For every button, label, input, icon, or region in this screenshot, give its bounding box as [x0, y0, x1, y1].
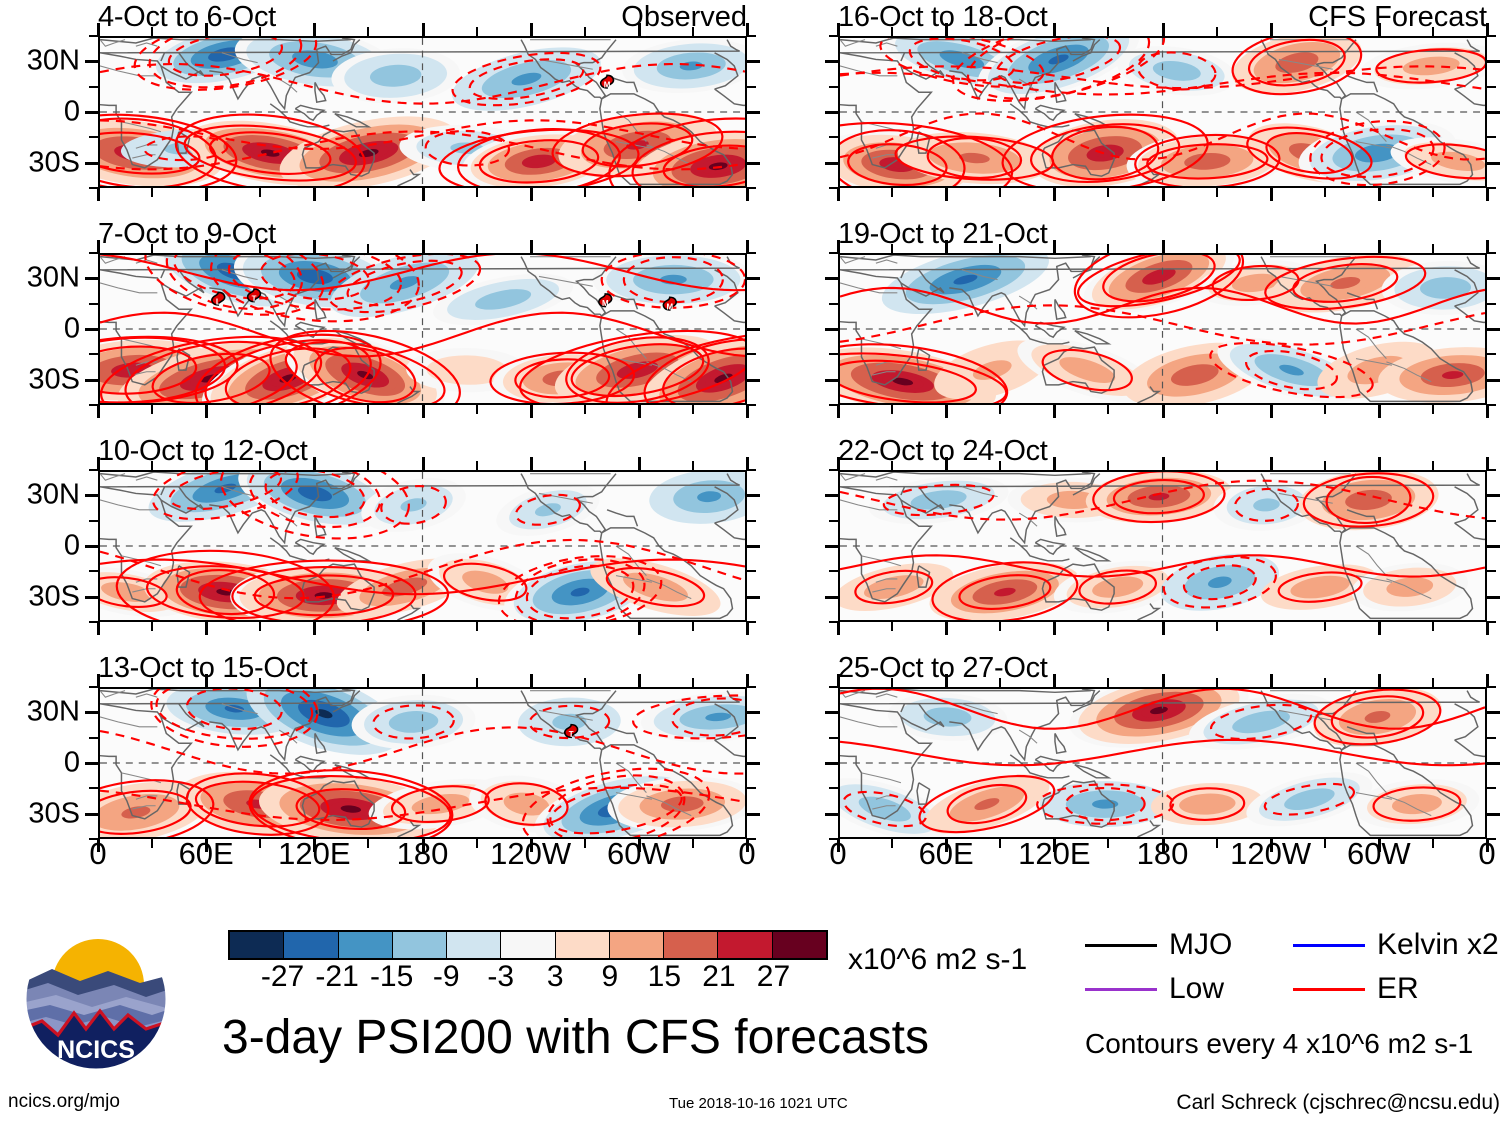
colorbar-tick-label: -15	[370, 962, 413, 992]
x-tick-top	[367, 27, 369, 36]
y-tick-right	[747, 621, 756, 623]
y-tick-right	[1487, 787, 1496, 789]
x-axis-label: 180	[397, 838, 449, 869]
y-tick	[89, 520, 98, 522]
colorbar-segments	[228, 930, 828, 960]
x-tick-top	[692, 27, 694, 36]
x-tick-top	[1378, 674, 1381, 687]
x-tick-top	[422, 457, 425, 470]
x-tick-top	[638, 240, 641, 253]
x-tick-top	[1216, 244, 1218, 253]
y-tick	[89, 469, 98, 471]
y-tick	[89, 187, 98, 189]
x-tick	[1107, 405, 1109, 414]
x-tick-top	[945, 23, 948, 36]
x-tick	[1053, 188, 1056, 201]
x-axis-label: 60E	[919, 838, 974, 869]
y-tick-right	[747, 596, 760, 599]
y-tick-right	[747, 328, 760, 331]
x-tick-top	[259, 27, 261, 36]
y-tick	[89, 737, 98, 739]
y-tick	[829, 35, 838, 37]
y-tick-right	[747, 737, 756, 739]
x-tick-top	[313, 240, 316, 253]
x-tick-top	[945, 674, 948, 687]
x-tick	[638, 405, 641, 418]
x-tick	[1486, 622, 1489, 635]
x-tick	[1270, 188, 1273, 201]
x-tick	[584, 405, 586, 414]
y-tick-right	[1487, 494, 1500, 497]
y-tick	[825, 277, 838, 280]
legend-line-swatch	[1293, 988, 1365, 991]
x-tick-top	[1378, 240, 1381, 253]
x-tick-top	[259, 244, 261, 253]
y-tick	[829, 136, 838, 138]
y-axis-label: 30N	[27, 264, 80, 293]
x-tick	[1324, 622, 1326, 631]
x-tick	[584, 622, 586, 631]
colorbar-tick-label: -3	[487, 962, 514, 992]
y-axis-label: 30N	[27, 481, 80, 510]
x-tick-top	[151, 244, 153, 253]
map-frame: M	[98, 36, 747, 188]
y-axis-label: 0	[64, 315, 80, 344]
x-tick-top	[999, 678, 1001, 687]
footer-website[interactable]: ncics.org/mjo	[8, 1092, 120, 1111]
y-tick-right	[747, 379, 760, 382]
y-tick-right	[747, 787, 756, 789]
x-tick	[97, 405, 100, 418]
x-tick-top	[1107, 27, 1109, 36]
y-tick	[829, 353, 838, 355]
y-tick-right	[1487, 86, 1496, 88]
x-tick	[692, 622, 694, 631]
x-tick	[891, 622, 893, 631]
y-tick	[825, 596, 838, 599]
y-tick	[85, 328, 98, 331]
panel-title: 4-Oct to 6-Oct	[98, 3, 276, 32]
x-tick-top	[638, 23, 641, 36]
legend-line-swatch	[1085, 944, 1157, 947]
svg-text:M: M	[602, 299, 609, 308]
map-frame	[838, 36, 1487, 188]
x-tick-top	[584, 678, 586, 687]
y-tick-right	[1487, 111, 1500, 114]
x-tick-top	[205, 23, 208, 36]
y-tick-right	[747, 711, 760, 714]
x-tick-top	[638, 457, 641, 470]
x-tick	[530, 622, 533, 635]
x-tick	[476, 188, 478, 197]
y-tick	[829, 86, 838, 88]
contour-interval-note: Contours every 4 x10^6 m2 s-1	[1085, 1030, 1473, 1058]
map-frame	[838, 253, 1487, 405]
y-tick-right	[747, 813, 760, 816]
y-tick-right	[1487, 596, 1500, 599]
panel-title: 22-Oct to 24-Oct	[838, 437, 1048, 466]
y-tick-right	[1487, 379, 1500, 382]
colorbar-tick-label: -27	[261, 962, 304, 992]
x-tick	[1107, 188, 1109, 197]
y-tick-right	[747, 404, 756, 406]
y-axis-label: 30S	[28, 365, 80, 394]
x-tick-top	[1216, 27, 1218, 36]
y-axis-label: 30N	[27, 47, 80, 76]
x-tick	[692, 188, 694, 197]
x-tick	[1432, 622, 1434, 631]
y-tick	[85, 711, 98, 714]
y-tick	[825, 328, 838, 331]
legend-label: MJO	[1169, 930, 1232, 960]
y-tick	[85, 277, 98, 280]
x-tick-top	[584, 461, 586, 470]
y-axis-label: 0	[64, 532, 80, 561]
map-panel: 19-Oct to 21-Oct	[838, 253, 1487, 405]
y-tick	[825, 813, 838, 816]
x-tick-top	[422, 23, 425, 36]
x-tick-top	[1162, 674, 1165, 687]
x-tick-top	[205, 240, 208, 253]
x-tick	[1270, 405, 1273, 418]
logo-text: NCICS	[57, 1036, 135, 1064]
x-tick-top	[313, 23, 316, 36]
y-tick	[829, 469, 838, 471]
y-tick-right	[747, 520, 756, 522]
colorbar-tick-label: 9	[601, 962, 618, 992]
x-tick-top	[1216, 678, 1218, 687]
x-axis-labels-left: 060E120E180120W60W0	[98, 838, 747, 878]
x-tick-top	[945, 457, 948, 470]
x-tick	[945, 405, 948, 418]
x-tick	[1107, 622, 1109, 631]
x-tick-top	[945, 240, 948, 253]
y-tick-right	[1487, 520, 1496, 522]
map-panel: 13-Oct to 15-Oct T 30N030S	[98, 687, 747, 839]
x-tick	[367, 405, 369, 414]
x-tick-top	[1270, 457, 1273, 470]
x-tick-top	[999, 27, 1001, 36]
x-tick	[1432, 188, 1434, 197]
x-axis-label: 60W	[607, 838, 671, 869]
ncics-logo: NCICS	[22, 925, 170, 1073]
y-tick-right	[1487, 328, 1500, 331]
x-tick	[422, 405, 425, 418]
x-tick	[1216, 405, 1218, 414]
y-tick	[89, 570, 98, 572]
x-tick-top	[1053, 23, 1056, 36]
x-tick	[891, 405, 893, 414]
x-tick-top	[259, 461, 261, 470]
y-tick-right	[747, 570, 756, 572]
footer-author[interactable]: Carl Schreck (cjschrec@ncsu.edu)	[1176, 1092, 1500, 1113]
y-tick	[825, 545, 838, 548]
y-tick-right	[1487, 686, 1496, 688]
y-tick-right	[1487, 737, 1496, 739]
legend-item-mjo: MJO	[1085, 930, 1232, 960]
x-tick-top	[1107, 461, 1109, 470]
y-tick	[85, 111, 98, 114]
panel-title: 13-Oct to 15-Oct	[98, 654, 308, 683]
y-tick-right	[747, 545, 760, 548]
map-panel: 16-Oct to 18-OctCFS Forecast	[838, 36, 1487, 188]
x-tick	[999, 188, 1001, 197]
x-tick	[837, 622, 840, 635]
x-tick	[1378, 405, 1381, 418]
map-frame: L T M M	[98, 253, 747, 405]
map-panel: 7-Oct to 9-Oct L T M M 30N030S	[98, 253, 747, 405]
x-tick-top	[1432, 678, 1434, 687]
y-tick	[829, 686, 838, 688]
y-axis-label: 30S	[28, 148, 80, 177]
y-tick	[89, 303, 98, 305]
y-tick-right	[747, 162, 760, 165]
x-tick-top	[1053, 240, 1056, 253]
x-tick-top	[999, 461, 1001, 470]
y-tick-right	[747, 353, 756, 355]
footer-timestamp: Tue 2018-10-16 1021 UTC	[669, 1096, 848, 1111]
x-tick	[999, 622, 1001, 631]
x-tick	[1162, 405, 1165, 418]
y-tick-right	[1487, 60, 1500, 63]
legend-item-kelvin-x2: Kelvin x2	[1293, 930, 1499, 960]
x-tick	[891, 188, 893, 197]
colorbar-segment	[501, 932, 555, 958]
x-axis-label: 60W	[1347, 838, 1411, 869]
y-tick-right	[747, 187, 756, 189]
colorbar-segment	[718, 932, 772, 958]
colorbar-tick-label: -21	[315, 962, 358, 992]
y-tick-right	[747, 494, 760, 497]
x-tick-top	[1270, 240, 1273, 253]
x-tick-top	[1432, 27, 1434, 36]
y-tick	[89, 787, 98, 789]
y-tick-right	[1487, 136, 1496, 138]
x-tick	[945, 622, 948, 635]
y-tick-right	[1487, 35, 1496, 37]
colorbar-segment	[556, 932, 610, 958]
colorbar-units-label: x10^6 m2 s-1	[848, 945, 1027, 975]
map-panel: 25-Oct to 27-Oct	[838, 687, 1487, 839]
y-tick-right	[747, 303, 756, 305]
x-tick-top	[1162, 240, 1165, 253]
mjo-psi200-figure: 4-Oct to 6-OctObserved M 30N030S7-Oct to…	[0, 0, 1510, 1121]
x-tick-top	[530, 457, 533, 470]
x-tick-top	[1053, 457, 1056, 470]
x-tick-top	[891, 244, 893, 253]
x-axis-label: 120E	[278, 838, 350, 869]
x-tick	[1486, 405, 1489, 418]
y-tick-right	[747, 111, 760, 114]
x-tick-top	[259, 678, 261, 687]
x-tick	[1324, 405, 1326, 414]
svg-text:T: T	[569, 730, 574, 739]
x-tick	[367, 188, 369, 197]
x-tick	[476, 622, 478, 631]
x-tick-top	[151, 461, 153, 470]
colorbar-segment	[339, 932, 393, 958]
y-tick	[89, 86, 98, 88]
x-tick-top	[891, 461, 893, 470]
y-axis-label: 30N	[27, 698, 80, 727]
y-tick-right	[1487, 404, 1496, 406]
map-panel: 4-Oct to 6-OctObserved M 30N030S	[98, 36, 747, 188]
x-tick-top	[476, 678, 478, 687]
y-tick	[825, 379, 838, 382]
x-tick-top	[1378, 457, 1381, 470]
x-tick	[530, 405, 533, 418]
legend-item-low: Low	[1085, 974, 1224, 1004]
x-tick-top	[1270, 674, 1273, 687]
y-tick-right	[1487, 277, 1500, 280]
panel-title: 10-Oct to 12-Oct	[98, 437, 308, 466]
x-tick	[1324, 188, 1326, 197]
x-tick-top	[1378, 23, 1381, 36]
x-tick	[1432, 405, 1434, 414]
x-tick	[746, 405, 749, 418]
y-tick-right	[747, 686, 756, 688]
panel-title: 16-Oct to 18-Oct	[838, 3, 1048, 32]
x-tick-top	[1216, 461, 1218, 470]
svg-text:M: M	[666, 303, 673, 312]
x-tick-top	[692, 244, 694, 253]
x-tick-top	[476, 27, 478, 36]
x-tick	[1216, 622, 1218, 631]
x-tick-top	[313, 674, 316, 687]
x-tick-top	[692, 461, 694, 470]
main-title: 3-day PSI200 with CFS forecasts	[222, 1014, 929, 1062]
x-tick-top	[1324, 244, 1326, 253]
y-tick-right	[747, 60, 760, 63]
x-tick-top	[1107, 678, 1109, 687]
x-tick	[584, 188, 586, 197]
y-tick	[829, 404, 838, 406]
x-tick	[205, 622, 208, 635]
y-tick	[89, 35, 98, 37]
y-tick-right	[1487, 303, 1496, 305]
x-tick-top	[367, 678, 369, 687]
x-tick	[476, 405, 478, 414]
x-tick	[945, 188, 948, 201]
x-tick	[837, 405, 840, 418]
y-tick	[829, 303, 838, 305]
x-tick	[1216, 188, 1218, 197]
x-tick-top	[151, 27, 153, 36]
y-tick	[89, 252, 98, 254]
x-tick	[1053, 622, 1056, 635]
x-tick	[205, 405, 208, 418]
y-tick-right	[1487, 252, 1496, 254]
y-tick	[89, 686, 98, 688]
x-tick-top	[530, 23, 533, 36]
y-tick-right	[747, 86, 756, 88]
colorbar-tick-label: 15	[648, 962, 681, 992]
y-tick	[829, 621, 838, 623]
x-tick	[422, 622, 425, 635]
x-axis-labels-right: 060E120E180120W60W0	[838, 838, 1487, 878]
colorbar-segment	[393, 932, 447, 958]
x-tick-top	[1324, 678, 1326, 687]
y-tick	[89, 353, 98, 355]
x-tick	[746, 622, 749, 635]
x-tick-top	[313, 457, 316, 470]
legend-label: ER	[1377, 974, 1419, 1004]
y-tick-right	[747, 469, 756, 471]
x-tick	[205, 188, 208, 201]
y-tick-right	[747, 277, 760, 280]
panel-corner-label: CFS Forecast	[1308, 3, 1487, 32]
x-tick-top	[692, 678, 694, 687]
x-tick-top	[584, 27, 586, 36]
x-tick	[259, 188, 261, 197]
y-tick-right	[747, 35, 756, 37]
y-tick	[89, 621, 98, 623]
map-frame	[98, 470, 747, 622]
y-axis-label: 0	[64, 749, 80, 778]
svg-text:L: L	[216, 298, 221, 307]
y-tick	[85, 545, 98, 548]
y-axis-label: 0	[64, 98, 80, 127]
y-tick	[85, 596, 98, 599]
x-axis-label: 180	[1137, 838, 1189, 869]
x-tick-top	[638, 674, 641, 687]
x-tick	[259, 622, 261, 631]
colorbar-tick-label: 3	[547, 962, 564, 992]
colorbar-segment	[230, 932, 284, 958]
panel-title: 7-Oct to 9-Oct	[98, 220, 276, 249]
x-tick	[97, 188, 100, 201]
map-panel: 10-Oct to 12-Oct 30N030S	[98, 470, 747, 622]
y-tick	[829, 787, 838, 789]
y-tick-right	[747, 136, 756, 138]
y-tick-right	[747, 252, 756, 254]
x-tick	[638, 188, 641, 201]
colorbar-tick-labels: -27-21-15-9-339152127	[228, 962, 828, 996]
svg-text:M: M	[604, 81, 611, 90]
x-tick-top	[367, 244, 369, 253]
legend-line-swatch	[1085, 988, 1157, 991]
x-tick	[151, 622, 153, 631]
y-tick	[85, 813, 98, 816]
x-tick-top	[422, 674, 425, 687]
x-tick	[313, 405, 316, 418]
colorbar-tick-label: 27	[757, 962, 790, 992]
y-tick	[829, 570, 838, 572]
y-tick-right	[747, 762, 760, 765]
y-tick	[829, 520, 838, 522]
x-tick	[1270, 622, 1273, 635]
x-axis-label: 0	[89, 838, 106, 869]
legend-item-er: ER	[1293, 974, 1419, 1004]
x-tick-top	[476, 461, 478, 470]
x-tick	[367, 622, 369, 631]
x-tick	[999, 405, 1001, 414]
colorbar-segment	[447, 932, 501, 958]
y-tick-right	[1487, 545, 1500, 548]
x-tick-top	[1270, 23, 1273, 36]
colorbar-tick-label: -9	[433, 962, 460, 992]
x-tick-top	[205, 457, 208, 470]
y-axis-label: 30S	[28, 582, 80, 611]
colorbar-tick-label: 21	[702, 962, 735, 992]
x-tick	[530, 188, 533, 201]
y-tick	[85, 60, 98, 63]
panel-title: 25-Oct to 27-Oct	[838, 654, 1048, 683]
x-tick	[259, 405, 261, 414]
x-tick-top	[1053, 674, 1056, 687]
y-tick	[825, 60, 838, 63]
map-frame	[838, 687, 1487, 839]
